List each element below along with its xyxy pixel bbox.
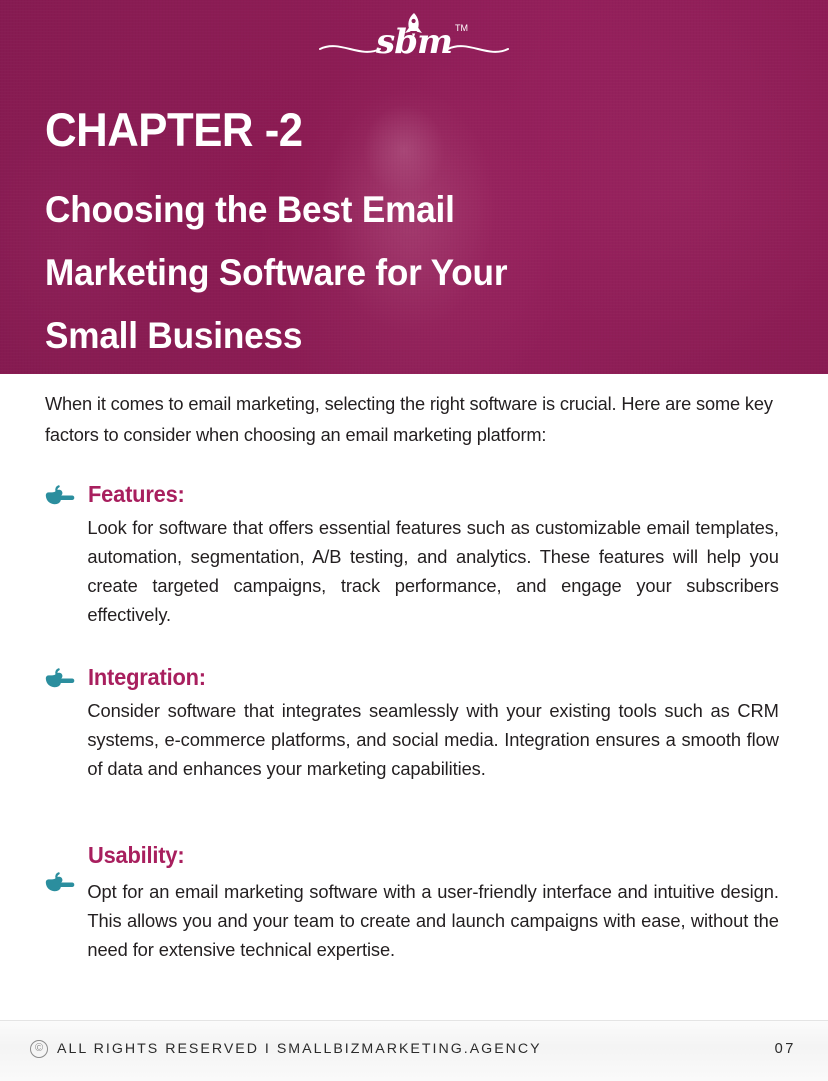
section-integration-title: Integration: (88, 662, 206, 692)
chapter-subtitle-line-3: Small Business (45, 304, 710, 367)
intro-paragraph: When it comes to email marketing, select… (45, 388, 775, 450)
section-integration-body: Consider software that integrates seamle… (45, 696, 779, 783)
chapter-subtitle-line-1: Choosing the Best Email (45, 178, 710, 241)
section-integration-head: Integration: (45, 665, 790, 695)
sbm-logo[interactable]: sbm TM (0, 8, 828, 66)
section-features-title: Features: (88, 479, 185, 509)
section-usability-head: Usability: (45, 848, 790, 878)
footer-copyright: © ALL RIGHTS RESERVED I SMALLBIZMARKETIN… (30, 1040, 542, 1058)
page-footer: © ALL RIGHTS RESERVED I SMALLBIZMARKETIN… (0, 1020, 828, 1081)
section-features-body: Look for software that offers essential … (45, 513, 779, 629)
section-usability-body: Opt for an email marketing software with… (45, 877, 779, 964)
pointing-hand-icon (45, 667, 75, 693)
chapter-subtitle: Choosing the Best Email Marketing Softwa… (45, 178, 710, 367)
footer-copyright-text: ALL RIGHTS RESERVED I SMALLBIZMARKETING.… (57, 1041, 542, 1057)
section-features: Features: Look for software that offers … (45, 482, 790, 629)
section-usability-title: Usability: (88, 840, 184, 870)
page-number: 07 (775, 1041, 796, 1057)
chapter-subtitle-line-2: Marketing Software for Your (45, 241, 710, 304)
section-integration: Integration: Consider software that inte… (45, 665, 790, 783)
pointing-hand-icon (45, 484, 75, 510)
chapter-header: sbm TM CHAPTER -2 Choosing the Best Emai… (0, 0, 828, 374)
section-usability: Usability: Opt for an email marketing so… (45, 848, 790, 964)
chapter-label: CHAPTER -2 (45, 103, 303, 157)
section-features-head: Features: (45, 482, 790, 512)
ebook-page: sbm TM CHAPTER -2 Choosing the Best Emai… (0, 0, 828, 1081)
chapter-content: When it comes to email marketing, select… (0, 374, 828, 1020)
svg-text:sbm: sbm (375, 22, 452, 62)
copyright-icon: © (30, 1040, 48, 1058)
svg-text:TM: TM (455, 23, 468, 33)
